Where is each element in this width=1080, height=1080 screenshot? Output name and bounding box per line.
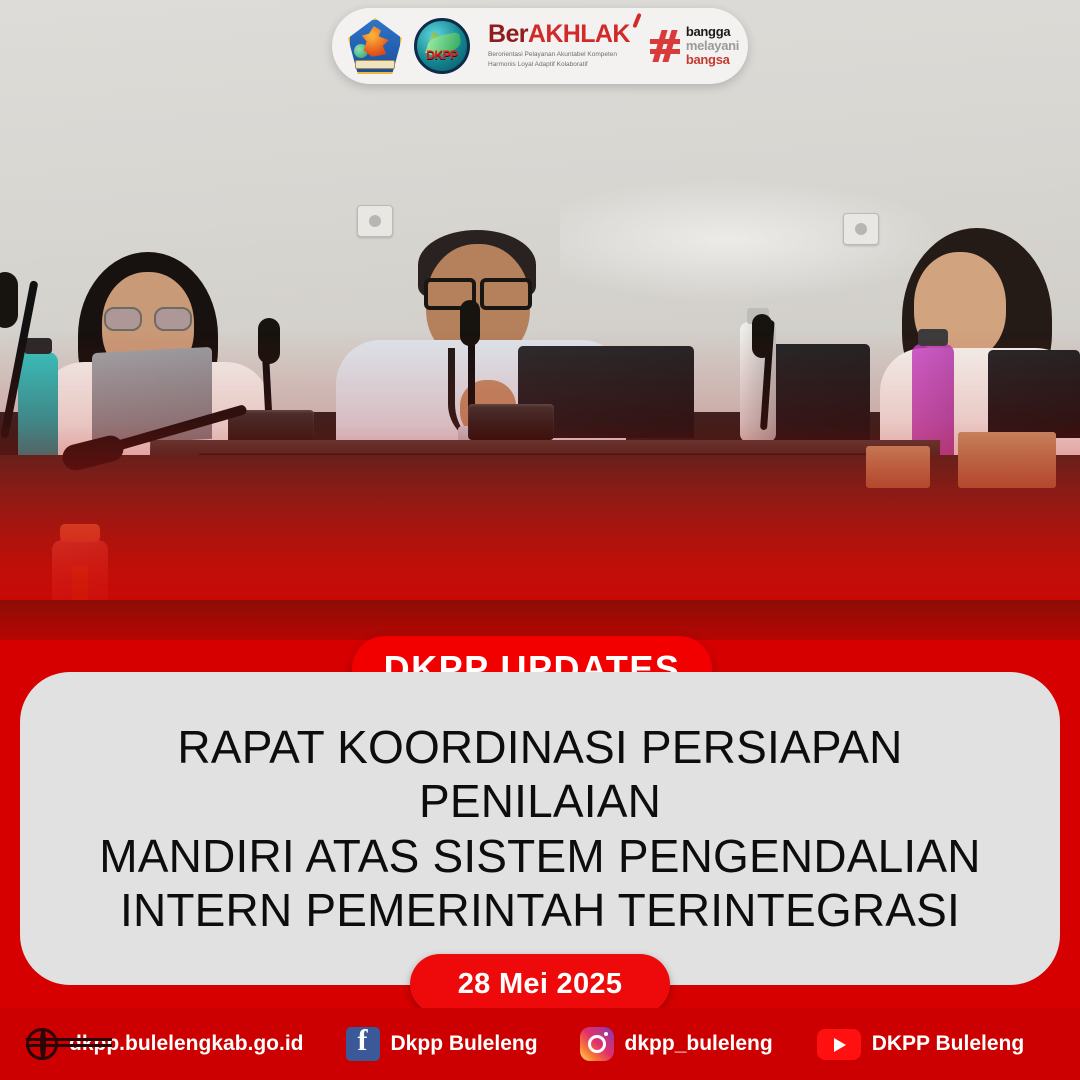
facebook-label: Dkpp Buleleng	[391, 1032, 538, 1056]
footer-social-bar: dkpp.bulelengkab.go.id Dkpp Buleleng dkp…	[0, 1008, 1080, 1080]
meeting-photo	[0, 0, 1080, 660]
footer-website[interactable]: dkpp.bulelengkab.go.id	[26, 1028, 304, 1060]
youtube-label: DKPP Buleleng	[872, 1032, 1024, 1056]
instagram-label: dkpp_buleleng	[625, 1032, 773, 1056]
glasses-icon	[104, 307, 192, 327]
globe-icon	[26, 1028, 58, 1060]
bangga-word3: bangsa	[686, 53, 739, 67]
footer-youtube[interactable]: DKPP Buleleng	[817, 1029, 1024, 1060]
microphone-head	[0, 272, 18, 328]
title-card: RAPAT KOORDINASI PERSIAPAN PENILAIAN MAN…	[20, 672, 1060, 985]
wall-socket-icon	[843, 213, 879, 245]
hashtag-icon	[650, 30, 680, 62]
youtube-icon	[817, 1029, 861, 1060]
title-line-2: MANDIRI ATAS SISTEM PENGENDALIAN	[60, 829, 1020, 883]
footer-instagram[interactable]: dkpp_buleleng	[580, 1027, 773, 1061]
event-date-label: 28 Mei 2025	[458, 968, 623, 1001]
title-line-3: INTERN PEMERINTAH TERINTEGRASI	[60, 883, 1020, 937]
event-date-badge: 28 Mei 2025	[410, 954, 670, 1014]
berakhlak-logo: BerAKHLAK Berorientasi Pelayanan Akuntab…	[488, 22, 630, 70]
glasses-icon	[424, 278, 532, 302]
footer-facebook[interactable]: Dkpp Buleleng	[346, 1027, 538, 1061]
social-media-poster: DKPP BerAKHLAK Berorientasi Pelayanan Ak…	[0, 0, 1080, 1080]
bangga-wordmark: bangga melayani bangsa	[686, 25, 739, 67]
facebook-icon	[346, 1027, 380, 1061]
berakhlak-tagline-line1: Berorientasi Pelayanan Akuntabel Kompete…	[488, 50, 630, 60]
title-line-1: RAPAT KOORDINASI PERSIAPAN PENILAIAN	[60, 720, 1020, 829]
berakhlak-tagline-line2: Harmonis Loyal Adaptif Kolaboratif	[488, 60, 630, 70]
dkpp-logo-icon: DKPP	[414, 18, 470, 74]
bangga-word2: melayani	[686, 39, 739, 53]
buleleng-regency-emblem-icon	[348, 18, 402, 74]
berakhlak-suffix: AKHLAK	[528, 20, 630, 48]
berakhlak-wordmark: BerAKHLAK	[488, 22, 630, 47]
dkpp-logo-label: DKPP	[417, 48, 467, 62]
berakhlak-prefix: Ber	[488, 20, 528, 48]
bangga-word1: bangga	[686, 25, 739, 39]
berakhlak-tagline: Berorientasi Pelayanan Akuntabel Kompete…	[488, 50, 630, 70]
bangga-melayani-bangsa-logo: bangga melayani bangsa	[650, 25, 739, 67]
instagram-icon	[580, 1027, 614, 1061]
page-title: RAPAT KOORDINASI PERSIAPAN PENILAIAN MAN…	[20, 720, 1060, 937]
logo-bar: DKPP BerAKHLAK Berorientasi Pelayanan Ak…	[332, 8, 748, 84]
